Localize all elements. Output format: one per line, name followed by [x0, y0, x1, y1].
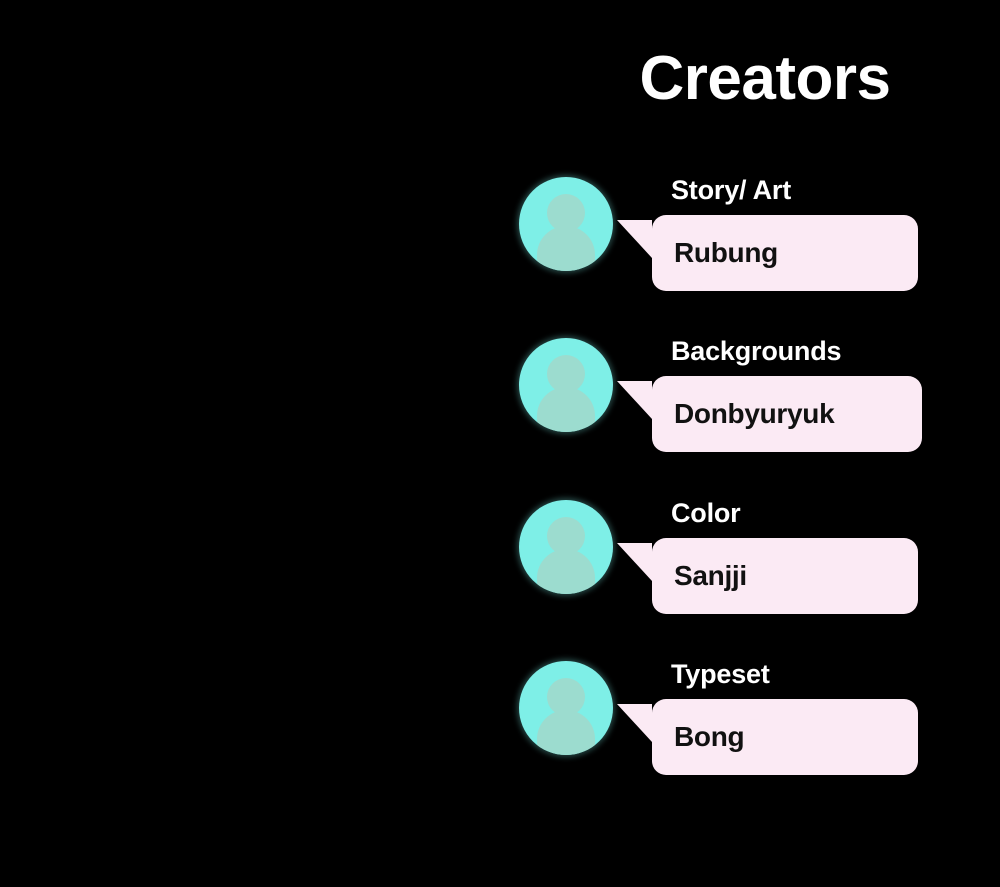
credit-row: Story/ Art Rubung — [0, 175, 1000, 325]
credit-name-bubble: Bong — [652, 699, 918, 775]
credit-name-bubble: Donbyuryuk — [652, 376, 922, 452]
credit-name: Bong — [674, 721, 744, 753]
credit-name-bubble: Sanjji — [652, 538, 918, 614]
credit-role-label: Story/ Art — [671, 175, 791, 206]
avatar-body-shape — [537, 226, 595, 271]
person-avatar-icon — [519, 500, 613, 594]
credit-role-label: Color — [671, 498, 741, 529]
avatar-body-shape — [537, 387, 595, 432]
avatar-body-shape — [537, 710, 595, 755]
person-avatar-icon — [519, 661, 613, 755]
person-avatar-icon — [519, 177, 613, 271]
page-title: Creators — [620, 46, 910, 111]
credit-row: Typeset Bong — [0, 659, 1000, 809]
credit-name: Sanjji — [674, 560, 747, 592]
credit-name: Rubung — [674, 237, 778, 269]
credit-name-bubble: Rubung — [652, 215, 918, 291]
creators-credits-page: Creators Story/ Art Rubung Backgrounds D… — [0, 0, 1000, 887]
avatar-body-shape — [537, 549, 595, 594]
speech-bubble-tail-icon — [617, 704, 652, 742]
credit-role-label: Typeset — [671, 659, 770, 690]
credit-row: Color Sanjji — [0, 498, 1000, 648]
speech-bubble-tail-icon — [617, 220, 652, 258]
credit-row: Backgrounds Donbyuryuk — [0, 336, 1000, 486]
speech-bubble-tail-icon — [617, 543, 652, 581]
person-avatar-icon — [519, 338, 613, 432]
speech-bubble-tail-icon — [617, 381, 652, 419]
credit-name: Donbyuryuk — [674, 398, 834, 430]
credit-role-label: Backgrounds — [671, 336, 841, 367]
